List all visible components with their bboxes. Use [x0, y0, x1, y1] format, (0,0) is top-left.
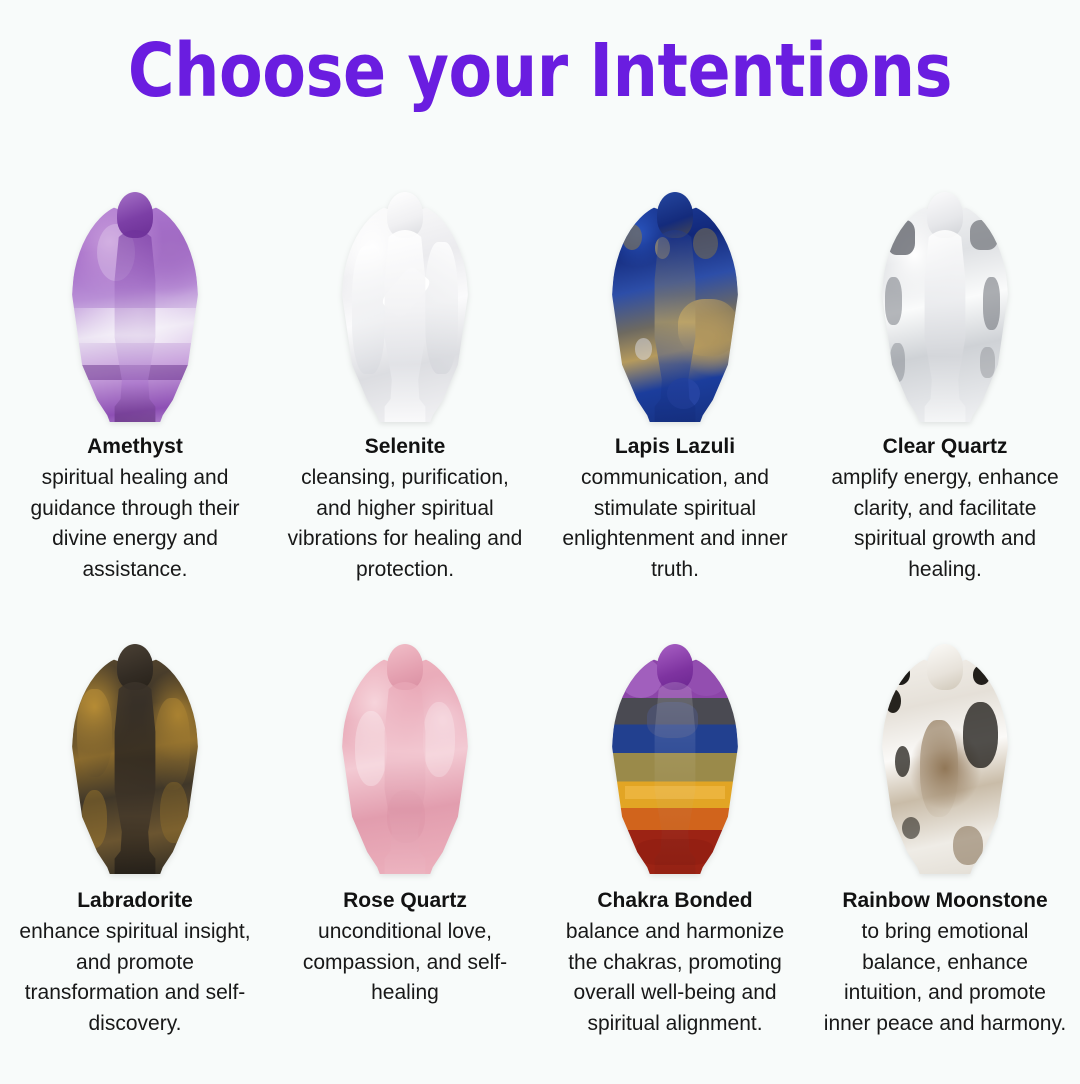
product-name: Lapis Lazuli	[548, 434, 802, 461]
product-name: Rose Quartz	[278, 888, 532, 915]
infographic-page: Choose your Intentions	[0, 0, 1080, 1080]
product-name: Rainbow Moonstone	[818, 888, 1072, 915]
figure-area	[818, 622, 1072, 874]
text-area: Selenite cleansing, purification, and hi…	[278, 422, 532, 586]
selenite-angel-figurine	[340, 190, 470, 422]
page-title: Choose your Intentions	[76, 34, 1005, 108]
product-name: Clear Quartz	[818, 434, 1072, 461]
product-description: balance and harmonize the chakras, promo…	[548, 917, 802, 1040]
product-card-clear-quartz[interactable]: Clear Quartz amplify energy, enhance cla…	[810, 160, 1080, 622]
lapis-lazuli-angel-figurine	[610, 190, 740, 422]
product-description: spiritual healing and guidance through t…	[8, 463, 262, 586]
product-description: to bring emotional balance, enhance intu…	[818, 917, 1072, 1040]
product-description: cleansing, purification, and higher spir…	[278, 463, 532, 586]
product-card-chakra-bonded[interactable]: Chakra Bonded balance and harmonize the …	[540, 622, 810, 1084]
labradorite-angel-figurine	[70, 642, 200, 874]
text-area: Amethyst spiritual healing and guidance …	[8, 422, 262, 586]
figure-area	[548, 160, 802, 422]
text-area: Lapis Lazuli communication, and stimulat…	[548, 422, 802, 586]
product-grid: Amethyst spiritual healing and guidance …	[0, 160, 1080, 1084]
product-name: Labradorite	[8, 888, 262, 915]
product-description: unconditional love, compassion, and self…	[278, 917, 532, 1009]
amethyst-angel-figurine	[70, 190, 200, 422]
product-card-rose-quartz[interactable]: Rose Quartz unconditional love, compassi…	[270, 622, 540, 1084]
rose-quartz-angel-figurine	[340, 642, 470, 874]
product-name: Amethyst	[8, 434, 262, 461]
text-area: Clear Quartz amplify energy, enhance cla…	[818, 422, 1072, 586]
clear-quartz-angel-figurine	[880, 190, 1010, 422]
text-area: Labradorite enhance spiritual insight, a…	[8, 874, 262, 1040]
product-card-lapis-lazuli[interactable]: Lapis Lazuli communication, and stimulat…	[540, 160, 810, 622]
rainbow-moonstone-angel-figurine	[880, 642, 1010, 874]
product-description: communication, and stimulate spiritual e…	[548, 463, 802, 586]
product-name: Selenite	[278, 434, 532, 461]
chakra-bonded-angel-figurine	[610, 642, 740, 874]
text-area: Rose Quartz unconditional love, compassi…	[278, 874, 532, 1009]
product-card-selenite[interactable]: Selenite cleansing, purification, and hi…	[270, 160, 540, 622]
product-card-rainbow-moonstone[interactable]: Rainbow Moonstone to bring emotional bal…	[810, 622, 1080, 1084]
figure-area	[8, 622, 262, 874]
product-description: enhance spiritual insight, and promote t…	[8, 917, 262, 1040]
product-card-labradorite[interactable]: Labradorite enhance spiritual insight, a…	[0, 622, 270, 1084]
product-name: Chakra Bonded	[548, 888, 802, 915]
figure-area	[548, 622, 802, 874]
figure-area	[8, 160, 262, 422]
text-area: Rainbow Moonstone to bring emotional bal…	[818, 874, 1072, 1040]
product-card-amethyst[interactable]: Amethyst spiritual healing and guidance …	[0, 160, 270, 622]
figure-area	[278, 622, 532, 874]
figure-area	[818, 160, 1072, 422]
product-description: amplify energy, enhance clarity, and fac…	[818, 463, 1072, 586]
text-area: Chakra Bonded balance and harmonize the …	[548, 874, 802, 1040]
figure-area	[278, 160, 532, 422]
